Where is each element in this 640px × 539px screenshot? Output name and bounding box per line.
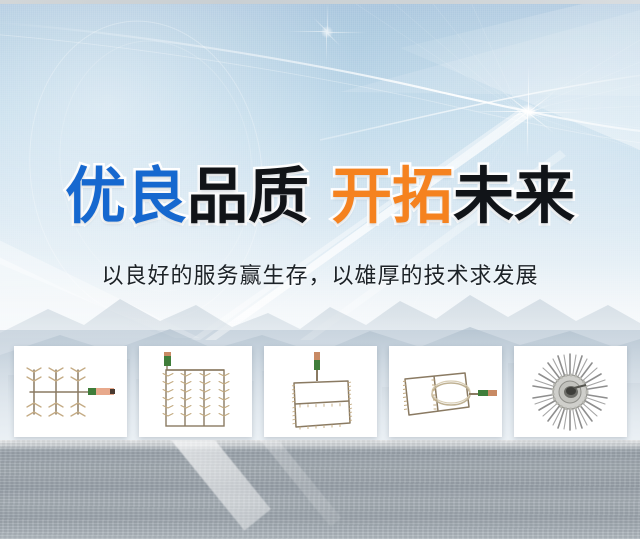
headline-segment-4: 未来 [453,161,575,232]
product-card-radial-star-rack[interactable] [514,346,627,437]
product-card-branched-plating-rack[interactable] [14,346,127,437]
double-row-spike-rack-icon [152,352,238,432]
two-tier-frame-rack-icon [280,351,360,433]
product-card-ring-panel-rack[interactable] [389,346,502,437]
ring-panel-rack-icon [393,361,497,423]
ground-pavement [0,440,640,539]
product-card-row [0,346,640,438]
headline: 优良品质 开拓未来 [0,166,640,227]
product-card-double-row-spike-rack[interactable] [139,346,252,437]
headline-spacer [309,166,331,227]
promo-banner: 优良品质 开拓未来 以良好的服务赢生存，以雄厚的技术求发展 [0,0,640,539]
product-card-two-tier-frame-rack[interactable] [264,346,377,437]
radial-star-rack-icon [530,352,610,432]
headline-segment-3: 开拓 [331,161,453,232]
branched-plating-rack-icon [20,356,120,428]
secondary-flare-star-icon [285,0,375,80]
headline-segment-2: 品质 [187,161,309,232]
ground-texture [0,440,640,539]
subtitle: 以良好的服务赢生存，以雄厚的技术求发展 [0,258,640,290]
headline-segment-1: 优良 [65,161,187,232]
top-edge-strip [0,0,640,4]
